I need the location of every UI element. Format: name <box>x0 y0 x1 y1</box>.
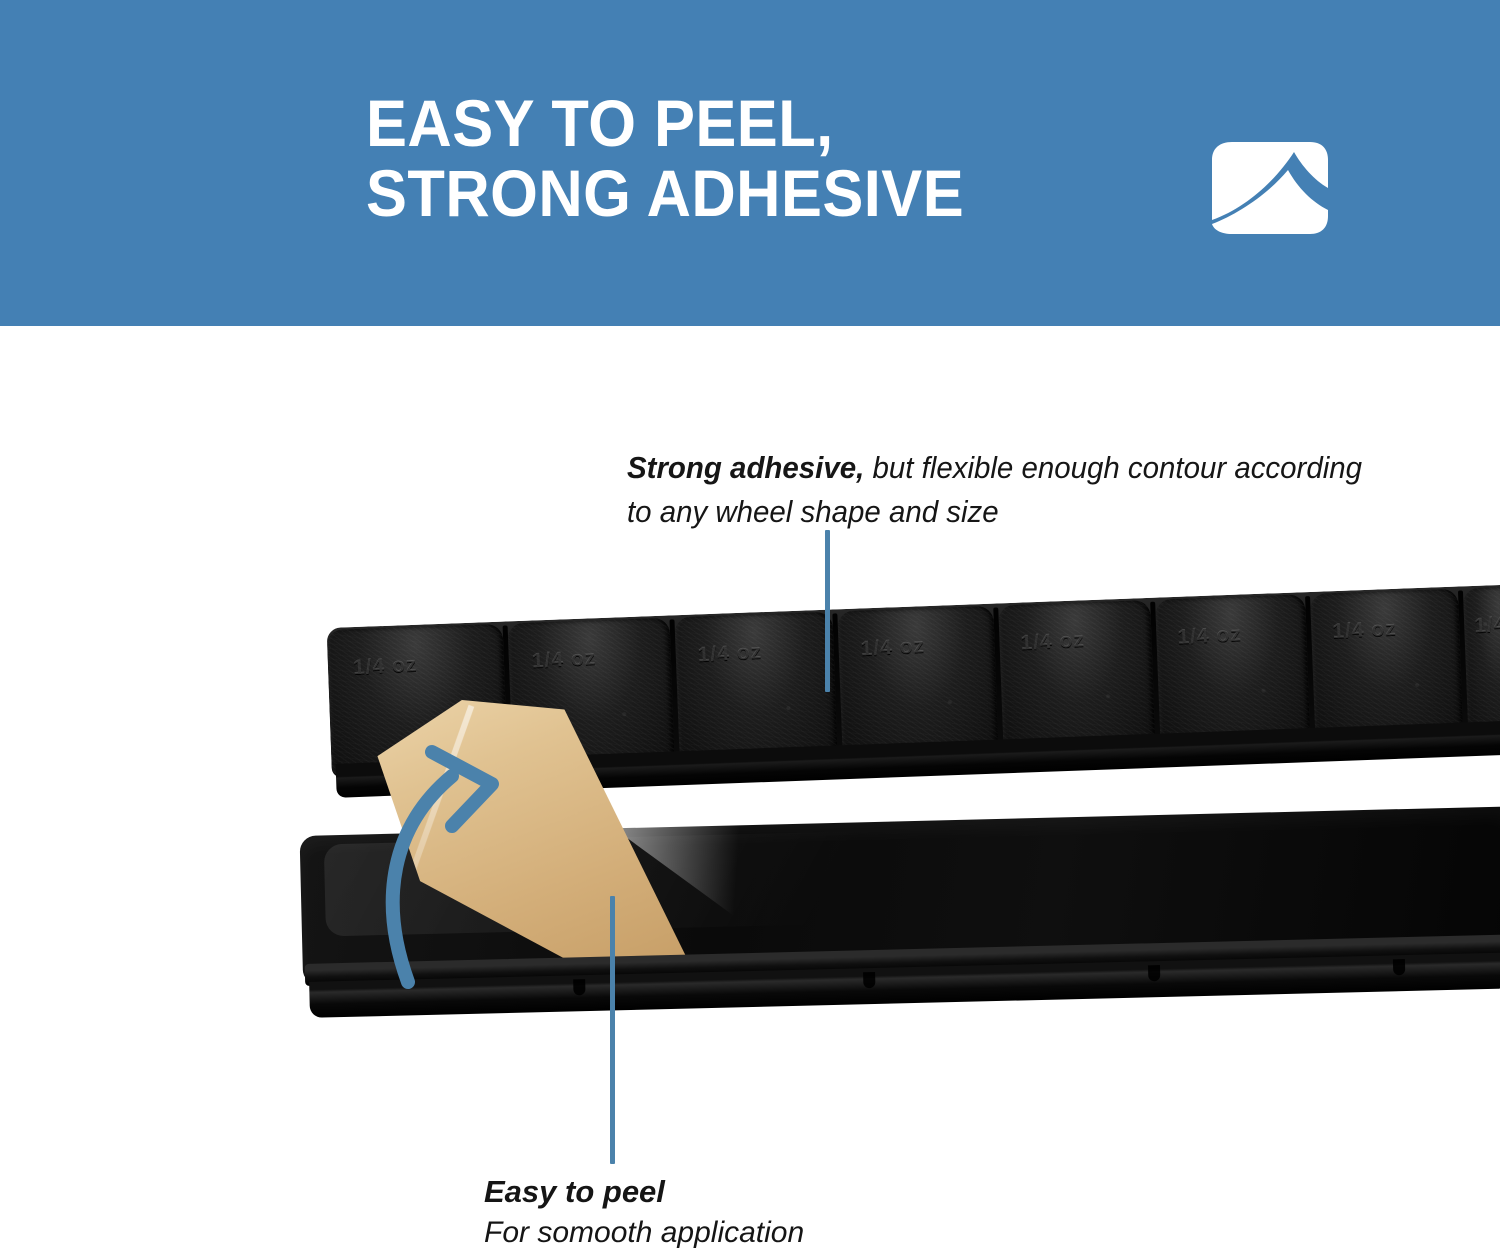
peeling-sticker-icon <box>1198 136 1334 240</box>
callout-peel-subtitle: For somooth application <box>484 1213 1044 1253</box>
weight-segment: 1/4 oz <box>998 600 1155 751</box>
callout-adhesive-emphasis: Strong adhesive, <box>627 450 864 485</box>
callout-strong-adhesive: Strong adhesive, but flexible enough con… <box>627 446 1378 534</box>
weight-marking: 1/4 oz <box>531 643 655 674</box>
weight-marking: 1/4 oz <box>1020 626 1137 656</box>
header-band: EASY TO PEEL, STRONG ADHESIVE <box>0 0 1500 326</box>
weight-marking: 1/4 oz <box>1177 620 1292 650</box>
callout-easy-to-peel: Easy to peel For somooth application <box>484 1173 1044 1253</box>
callout-peel-title: Easy to peel <box>484 1173 1044 1211</box>
weight-segment: 1/4 oz <box>1155 594 1310 745</box>
weight-segment: 1/4 oz <box>1463 586 1500 734</box>
weight-marking: 1/4 oz <box>697 637 818 667</box>
page-title: EASY TO PEEL, STRONG ADHESIVE <box>366 88 1129 228</box>
weight-marking: 1/4 oz <box>1473 612 1500 639</box>
weight-segment: 1/4 oz <box>674 612 837 764</box>
wheel-weight-strip-peeling <box>300 806 1500 1036</box>
weight-marking: 1/4 oz <box>1331 614 1445 644</box>
weight-marking: 1/4 oz <box>860 631 980 661</box>
weight-marking: 1/4 oz <box>352 649 487 680</box>
weight-segment: 1/4 oz <box>1310 589 1463 740</box>
infographic-page: EASY TO PEEL, STRONG ADHESIVE 1/4 oz 1/4… <box>0 0 1500 1253</box>
weight-segment: 1/4 oz <box>837 606 998 758</box>
